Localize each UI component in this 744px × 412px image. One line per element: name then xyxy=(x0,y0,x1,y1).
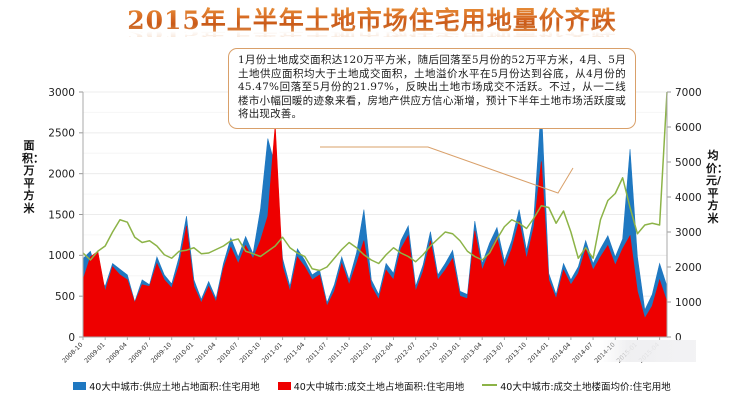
x-axis-tick-label: 2012-01 xyxy=(349,341,372,364)
left-axis-tick-label: 1000 xyxy=(48,250,75,262)
legend-item[interactable]: 40大中城市:成交土地占地面积:住宅用地 xyxy=(278,377,465,395)
x-axis-tick-label: 2010-04 xyxy=(194,341,217,364)
right-axis-tick-label: 1000 xyxy=(675,297,702,309)
legend-line-swatch xyxy=(482,384,497,386)
x-axis-tick-label: 2011-01 xyxy=(261,341,284,364)
right-axis-tick-label: 2000 xyxy=(675,262,702,274)
chart-legend: 40大中城市:供应土地占地面积:住宅用地40大中城市:成交土地占地面积:住宅用地… xyxy=(0,377,744,395)
left-axis-tick-label: 500 xyxy=(55,291,75,303)
right-axis-tick-label: 7000 xyxy=(675,87,702,99)
x-axis-tick-label: 2013-10 xyxy=(505,341,528,364)
chart-root: 2015年上半年土地市场住宅用地量价齐跌 2015年上半年土地市场住宅用地量价齐… xyxy=(0,0,744,412)
legend-item-label: 40大中城市:成交土地占地面积:住宅用地 xyxy=(294,379,465,393)
x-axis-tick-label: 2009-04 xyxy=(106,341,129,364)
left-axis-tick-label: 2500 xyxy=(48,128,75,140)
x-axis-tick-label: 2009-01 xyxy=(83,341,106,364)
legend-color-swatch xyxy=(278,382,291,390)
right-axis-tick-label: 3000 xyxy=(675,227,702,239)
annotation-text: 1月份土地成交面积达120万平方米，随后回落至5月份的52万平方米，4月、5月土… xyxy=(238,54,626,122)
x-axis-tick-label: 2010-01 xyxy=(172,341,195,364)
legend-color-swatch xyxy=(73,382,86,390)
x-axis-tick-label: 2009-07 xyxy=(128,341,151,364)
legend-item[interactable]: 40大中城市:成交土地楼面均价:住宅用地 xyxy=(482,377,671,395)
x-axis-tick-label: 2011-07 xyxy=(305,341,328,364)
left-axis-tick-label: 0 xyxy=(68,332,75,344)
x-axis-tick-label: 2014-01 xyxy=(527,341,550,364)
left-axis-tick-label: 1500 xyxy=(48,209,75,221)
x-axis-tick-label: 2008-10 xyxy=(61,341,84,364)
x-axis-tick-label: 2011-04 xyxy=(283,341,306,364)
right-axis-tick-label: 4000 xyxy=(675,192,702,204)
x-axis-tick-label: 2013-01 xyxy=(438,341,461,364)
x-axis-tick-label: 2012-04 xyxy=(372,341,395,364)
x-axis-tick-label: 2014-04 xyxy=(549,341,572,364)
x-axis-tick-label: 2011-10 xyxy=(327,341,350,364)
x-axis-tick-label: 2012-07 xyxy=(394,341,417,364)
right-axis-tick-label: 5000 xyxy=(675,157,702,169)
x-axis-tick-label: 2010-07 xyxy=(216,341,239,364)
legend-item-label: 40大中城市:成交土地楼面均价:住宅用地 xyxy=(500,379,671,393)
x-axis-tick-label: 2014-07 xyxy=(571,341,594,364)
watermark-overlay xyxy=(600,340,696,362)
x-axis-tick-label: 2013-07 xyxy=(483,341,506,364)
legend-item[interactable]: 40大中城市:供应土地占地面积:住宅用地 xyxy=(73,377,260,395)
annotation-callout: 1月份土地成交面积达120万平方米，随后回落至5月份的52万平方米，4月、5月土… xyxy=(228,48,636,129)
x-axis-tick-label: 2013-04 xyxy=(460,341,483,364)
right-axis-tick-label: 6000 xyxy=(675,122,702,134)
x-axis-tick-label: 2009-10 xyxy=(150,341,173,364)
left-axis-tick-label: 2000 xyxy=(48,168,75,180)
left-axis-tick-label: 3000 xyxy=(48,87,75,99)
x-axis-tick-label: 2012-10 xyxy=(416,341,439,364)
legend-item-label: 40大中城市:供应土地占地面积:住宅用地 xyxy=(89,379,260,393)
x-axis-tick-label: 2010-10 xyxy=(239,341,262,364)
